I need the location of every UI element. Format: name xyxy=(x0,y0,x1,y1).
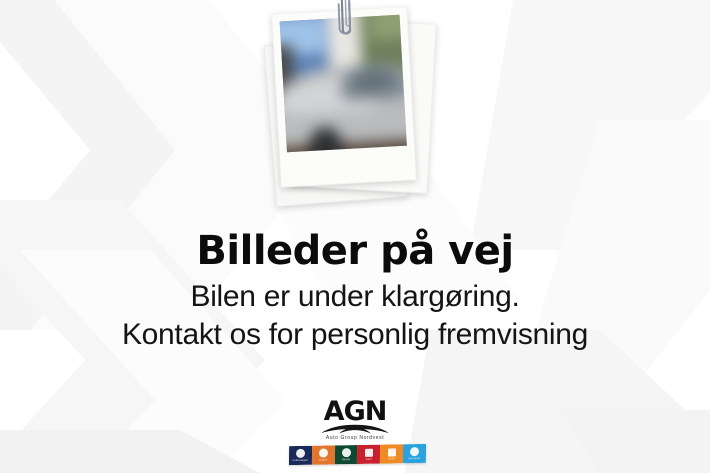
message-line-1: Bilen er under klargøring. xyxy=(0,278,710,316)
polaroid-photo-stack xyxy=(252,2,452,217)
brand-badge-label: Škoda xyxy=(342,458,350,461)
brand-badge-label: SEAT xyxy=(388,457,395,460)
brand-badge-skoda: Škoda xyxy=(335,445,358,464)
brand-badge-label: Cupra xyxy=(319,458,327,461)
brand-badge-label: Nordvest xyxy=(408,457,420,460)
message-line-2: Kontakt os for personlig fremvisning xyxy=(0,316,710,354)
agn-logo: AGN Auto Group Nordvest xyxy=(0,398,710,442)
brand-badge-audi: Audi xyxy=(357,445,380,464)
photo-region-foliage-highlight xyxy=(368,15,406,40)
nordvest-logo-icon xyxy=(410,447,419,456)
brand-badge-label: Volkswagen xyxy=(292,459,308,462)
vw-logo-icon xyxy=(296,449,305,458)
placeholder-image-canvas: Billeder på vej Bilen er under klargørin… xyxy=(0,0,710,473)
cupra-logo-icon xyxy=(319,448,328,457)
brand-logo-strip: Volkswagen Cupra Škoda Audi SEAT Nordves… xyxy=(289,444,426,465)
brand-badge-cupra: Cupra xyxy=(312,445,335,464)
seat-logo-icon xyxy=(388,448,396,456)
brand-badge-seat: SEAT xyxy=(380,444,403,463)
paperclip-icon xyxy=(334,0,358,44)
agn-tagline: Auto Group Nordvest xyxy=(0,435,710,442)
page-title: Billeder på vej xyxy=(0,228,710,274)
message-block: Bilen er under klargøring. Kontakt os fo… xyxy=(0,278,710,354)
audi-logo-icon xyxy=(365,448,373,456)
skoda-logo-icon xyxy=(342,448,351,457)
agn-wordmark: AGN xyxy=(0,398,710,425)
brand-badge-nordvest: Nordvest xyxy=(403,444,426,463)
brand-badge-volkswagen: Volkswagen xyxy=(289,446,312,465)
brand-badge-label: Audi xyxy=(366,457,372,460)
